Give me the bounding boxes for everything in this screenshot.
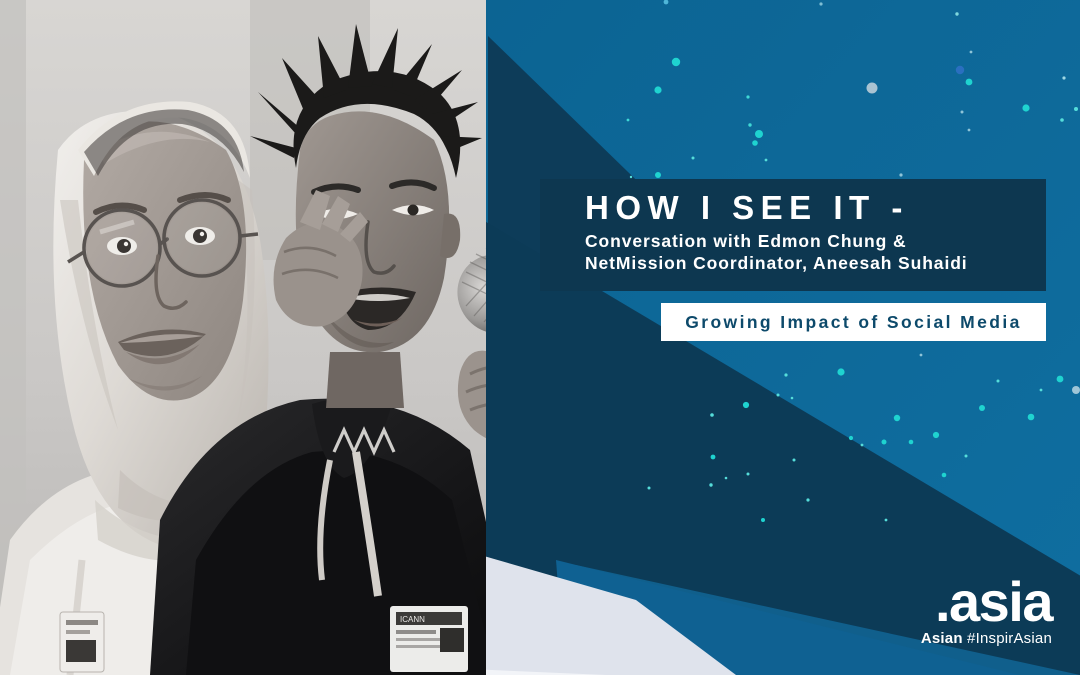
page-title: HOW I SEE IT - [585,186,1065,230]
svg-text:ICANN: ICANN [400,615,425,624]
logo-wordmark: .asia [935,577,1052,627]
topic-badge: Growing Impact of Social Media [661,303,1046,341]
speakers-photo: ICANN [0,0,486,675]
promo-banner: HOW I SEE IT - Conversation with Edmon C… [0,0,1080,675]
title-block: HOW I SEE IT - Conversation with Edmon C… [585,186,1065,274]
subtitle-line-2: NetMission Coordinator, Aneesah Suhaidi [585,252,1065,274]
speakers-photo-illustration: ICANN [0,0,486,675]
subtitle-line-1: Conversation with Edmon Chung & [585,230,1065,252]
asia-logo: .asia Asian #InspirAsian [921,577,1052,649]
topic-label: Growing Impact of Social Media [685,312,1021,333]
